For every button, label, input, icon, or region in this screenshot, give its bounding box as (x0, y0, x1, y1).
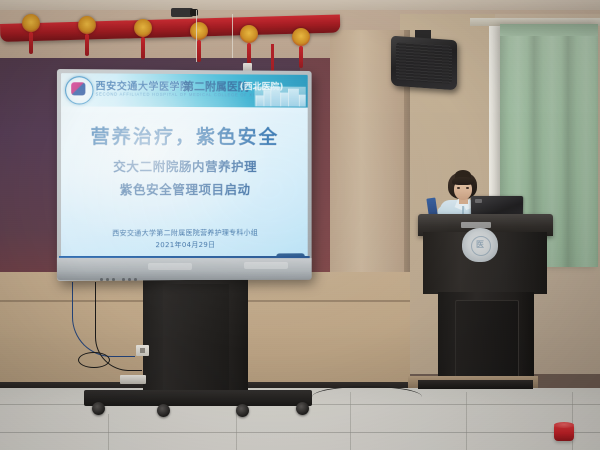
conference-room-photo: 福 西安交通大学医学院 第二附属医院 (西北医院) SECOND AFFILIA… (0, 0, 600, 450)
lectern-base-shadow (418, 380, 533, 389)
white-device-on-stand-base (120, 375, 146, 384)
garland-ornament (78, 16, 96, 56)
garland-ornament (292, 28, 310, 68)
floor-tile-seam (0, 432, 600, 433)
garland-ornament (190, 22, 208, 62)
whiteboard-speaker-grille (148, 263, 192, 270)
wall-power-outlet-slot (140, 348, 145, 353)
garland-ornament (134, 19, 152, 59)
presenter-eye (457, 187, 460, 189)
floor-tile-seam (572, 392, 573, 450)
slide-subtitle-2: 紫色安全管理项目启动 (61, 179, 308, 198)
floor-tile-seam (350, 392, 351, 450)
slide-subtitle-1: 交大二附院肠内营养护理 (61, 156, 308, 175)
hospital-crest-logo-core (71, 82, 85, 95)
stand-caster (296, 402, 309, 415)
whiteboard-speaker-grille (244, 262, 288, 269)
speaker-grille (396, 42, 452, 84)
slide-footer-organization: 西安交通大学第二附属医院营养护理专科小组 (61, 227, 308, 238)
whiteboard-buttons[interactable] (100, 268, 140, 286)
presentation-slide: 西安交通大学医学院 第二附属医院 (西北医院) SECOND AFFILIATE… (61, 73, 308, 271)
floor-tile-seam (466, 392, 467, 450)
presenter-hair-fringe (452, 177, 474, 185)
interactive-whiteboard-screen[interactable]: 西安交通大学医学院 第二附属医院 (西北医院) SECOND AFFILIATE… (61, 73, 308, 271)
laptop-logo (475, 199, 482, 203)
garland-ornament (240, 25, 258, 65)
stand-caster (236, 404, 249, 417)
floor-tile-seam (108, 414, 109, 450)
lectern-column-inset (455, 300, 519, 386)
ceiling-camera-wire (196, 10, 197, 62)
presenter-eye (466, 187, 469, 189)
hospital-emblem-glyph: 医 (471, 236, 489, 254)
stand-caster (157, 404, 170, 417)
display-stand-column-inset (163, 284, 229, 390)
banner-building-photo (255, 86, 306, 106)
paper-on-lectern (461, 222, 491, 228)
slide-title: 营养治疗，紫色安全 (61, 122, 308, 150)
coiled-cable (78, 352, 110, 368)
slide-footer-date: 2021年04月29日 (61, 239, 308, 250)
red-container-lid (554, 422, 574, 428)
stand-caster (92, 402, 105, 415)
display-stand-base (84, 390, 312, 406)
ceiling-wire (232, 14, 233, 58)
garland-ornament (22, 14, 40, 54)
curtain-rod-header (500, 24, 598, 36)
